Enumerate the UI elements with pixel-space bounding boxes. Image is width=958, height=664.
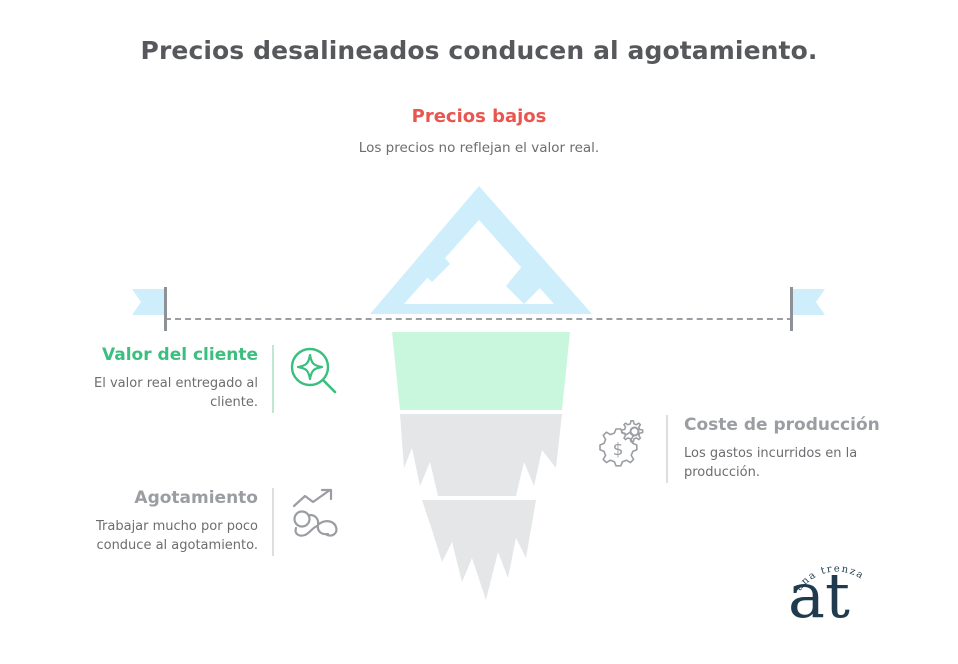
info-block-text: Coste de producción Los gastos incurrido…: [684, 415, 896, 483]
info-block-text: Valor del cliente El valor real entregad…: [62, 345, 258, 413]
flag-left-icon: [122, 285, 168, 333]
mountain-peak-icon: [370, 186, 592, 314]
info-block-coste-de-produccion: $ Coste de producción Los gastos incurri…: [596, 415, 916, 483]
info-block-description: Los gastos incurridos en la producción.: [684, 445, 896, 483]
info-block-text: Agotamiento Trabajar mucho por poco cond…: [62, 488, 258, 556]
gears-dollar-icon: $: [596, 415, 650, 467]
block-divider: [272, 488, 274, 556]
icon-container: [288, 345, 340, 397]
above-water-description: Los precios no reflejan el valor real.: [339, 139, 619, 159]
brand-logo: ana trenza at: [776, 533, 888, 641]
above-water-heading: Precios bajos: [339, 105, 619, 128]
logo-monogram: at: [788, 559, 850, 632]
info-block-heading: Agotamiento: [62, 488, 258, 509]
flag-right-icon: [789, 285, 835, 333]
info-block-description: El valor real entregado al cliente.: [62, 375, 258, 413]
above-water-label-group: Precios bajos Los precios no reflejan el…: [339, 105, 619, 159]
page-title: Precios desalineados conducen al agotami…: [0, 36, 958, 65]
info-block-valor-del-cliente: Valor del cliente El valor real entregad…: [62, 345, 362, 413]
burnout-person-arrow-icon: [288, 488, 342, 540]
infographic-canvas: Precios desalineados conducen al agotami…: [0, 0, 958, 664]
icon-container: $: [596, 415, 650, 467]
magnifier-sparkle-icon: [288, 345, 340, 397]
block-divider: [666, 415, 668, 483]
info-block-heading: Coste de producción: [684, 415, 896, 436]
info-block-description: Trabajar mucho por poco conduce al agota…: [62, 518, 258, 556]
info-block-heading: Valor del cliente: [62, 345, 258, 366]
svg-text:$: $: [613, 440, 624, 460]
iceberg-gray-band-lower: [422, 500, 536, 600]
info-block-agotamiento: Agotamiento Trabajar mucho por poco cond…: [62, 488, 362, 556]
block-divider: [272, 345, 274, 413]
icon-container: [288, 488, 342, 540]
iceberg-graphic: [366, 186, 596, 616]
waterline-dashed: [165, 318, 793, 320]
iceberg-gray-band-upper: [400, 414, 562, 496]
iceberg-green-band: [392, 332, 570, 410]
